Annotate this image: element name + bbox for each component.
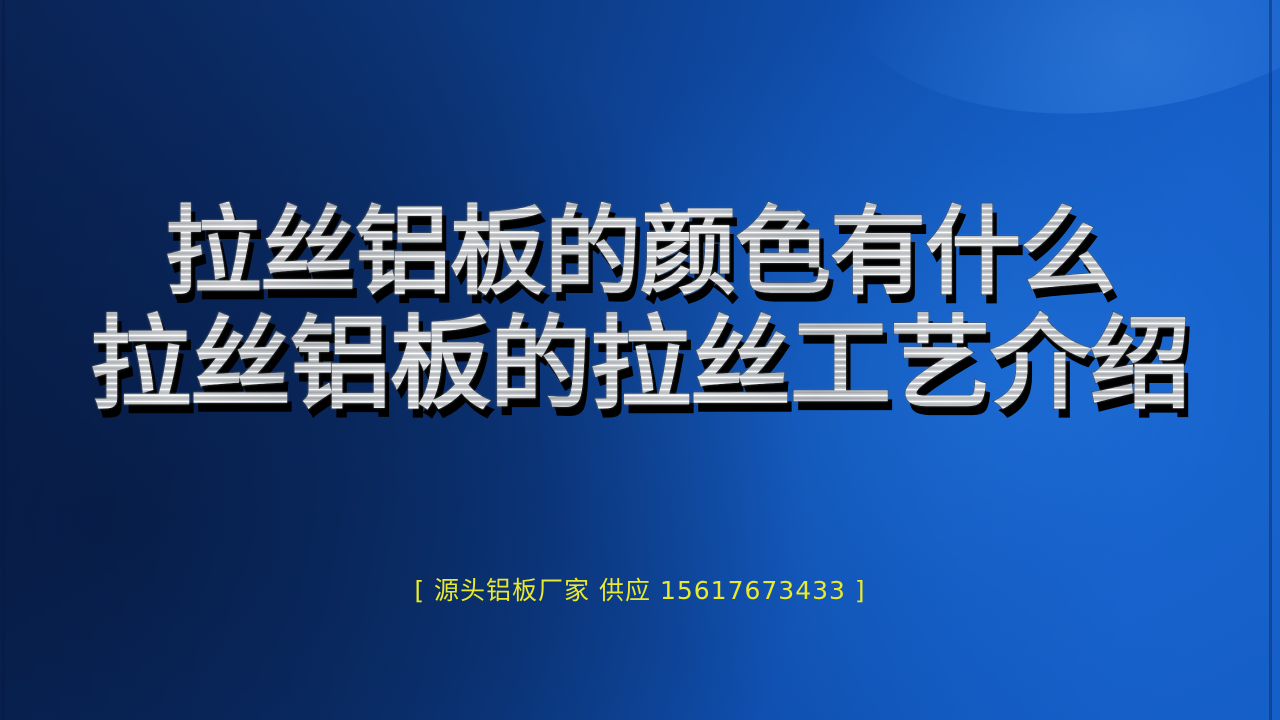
headline-line-1: 拉丝铝板的颜色有什么 拉丝铝板的颜色有什么 拉丝铝板的颜色有什么 <box>0 196 1280 308</box>
background-swoosh <box>822 0 1280 148</box>
headline-line-1-text: 拉丝铝板的颜色有什么 <box>165 196 1115 308</box>
slide-canvas: 拉丝铝板的颜色有什么 拉丝铝板的颜色有什么 拉丝铝板的颜色有什么 拉丝铝板的拉丝… <box>0 0 1280 720</box>
headline-line-2: 拉丝铝板的拉丝工艺介绍 拉丝铝板的拉丝工艺介绍 拉丝铝板的拉丝工艺介绍 <box>0 308 1280 420</box>
headline-line-2-text: 拉丝铝板的拉丝工艺介绍 <box>90 305 1190 423</box>
headline-block: 拉丝铝板的颜色有什么 拉丝铝板的颜色有什么 拉丝铝板的颜色有什么 拉丝铝板的拉丝… <box>0 196 1280 420</box>
subtitle-contact-line: [ 源头铝板厂家 供应 15617673433 ] <box>0 571 1280 607</box>
